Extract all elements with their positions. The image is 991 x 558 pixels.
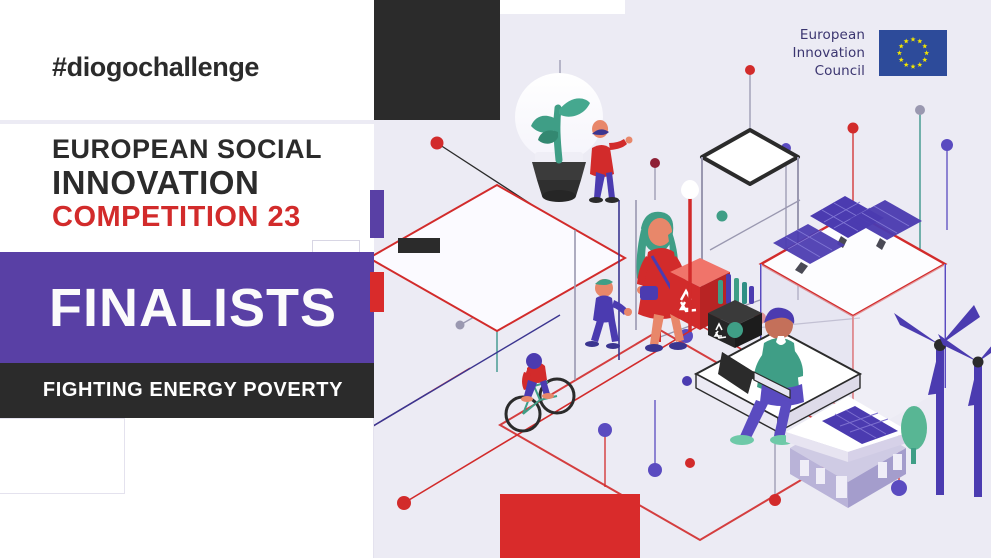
decor-block-red-bottom <box>500 494 640 558</box>
decor-bar-dark <box>398 238 440 253</box>
eic-logo-text: European Innovation Council <box>793 26 865 81</box>
subtitle-text: FIGHTING ENERGY POVERTY <box>0 363 374 418</box>
title-line-3: COMPETITION 23 <box>52 203 322 232</box>
eic-line-3: Council <box>793 62 865 80</box>
eic-line-2: Innovation <box>793 44 865 62</box>
cyclist <box>506 353 574 431</box>
hashtag-text: #diogochallenge <box>52 52 259 83</box>
person-red-jacket <box>589 120 633 203</box>
eic-logo: European Innovation Council <box>793 26 947 81</box>
poster-canvas: #diogochallenge EUROPEAN SOCIAL INNOVATI… <box>0 0 991 558</box>
bottom-white-panel-inner <box>0 418 125 494</box>
eu-flag-icon <box>879 30 947 76</box>
decor-block-white-strip <box>500 0 625 14</box>
child-purple-shirt <box>585 279 632 349</box>
iso-box-black <box>702 130 798 184</box>
eic-line-1: European <box>793 26 865 44</box>
iso-platform-main <box>369 185 625 331</box>
title-line-1: EUROPEAN SOCIAL <box>52 136 322 163</box>
decor-bar-purple <box>370 190 384 238</box>
title-line-2: INNOVATION <box>52 166 322 199</box>
title-block: EUROPEAN SOCIAL INNOVATION COMPETITION 2… <box>52 136 322 232</box>
finalists-text: FINALISTS <box>0 252 374 363</box>
hashtag-panel: #diogochallenge <box>0 0 374 120</box>
decor-block-dark-top <box>374 0 500 120</box>
lightbulb-with-plant <box>515 73 603 202</box>
